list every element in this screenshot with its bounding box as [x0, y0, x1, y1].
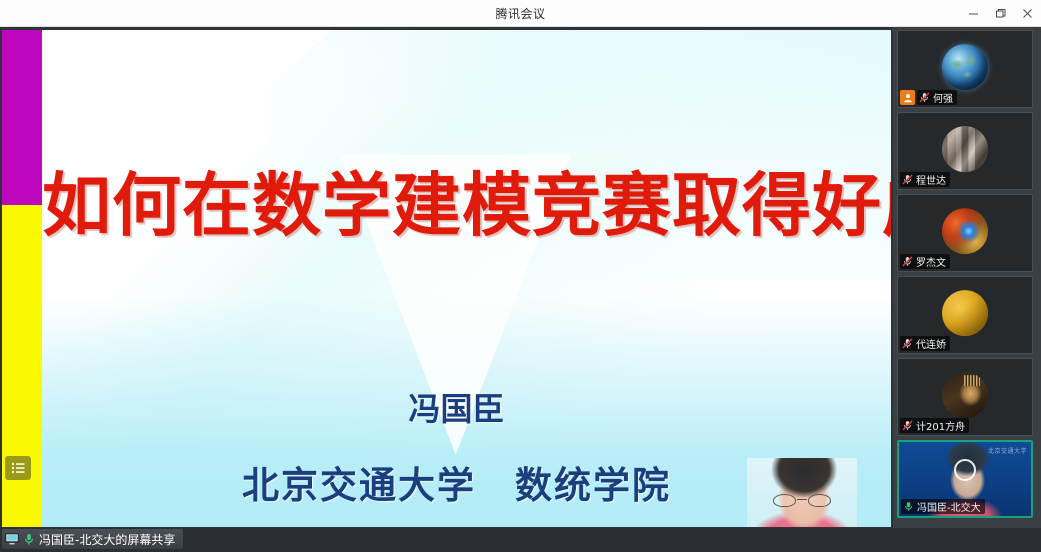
- participant-tile[interactable]: 何强: [897, 30, 1033, 108]
- share-status-label: 冯国臣-北交大的屏幕共享: [39, 531, 175, 548]
- meeting-frame: 如何在数学建模竞赛取得好成绩 冯国臣 北京交通大学 数统学院: [0, 27, 1041, 552]
- participant-tile-active[interactable]: 北京交通大学 冯国臣-北交大: [897, 440, 1033, 518]
- mic-muted-icon: [902, 420, 913, 431]
- presenter-video-overlay[interactable]: [747, 458, 857, 527]
- monitor-icon: [5, 533, 19, 545]
- participant-name: 程世达: [916, 172, 946, 187]
- minimize-button[interactable]: [960, 0, 987, 27]
- presentation-slide: 如何在数学建模竞赛取得好成绩 冯国臣 北京交通大学 数统学院: [2, 30, 891, 527]
- focus-ring-icon: [954, 459, 976, 481]
- participant-tile[interactable]: 代连娇: [897, 276, 1033, 354]
- mic-active-icon: [903, 501, 914, 512]
- avatar: [942, 126, 988, 172]
- presenter-face: [747, 458, 857, 527]
- avatar: [942, 290, 988, 336]
- avatar: [942, 372, 988, 418]
- participant-strip[interactable]: 何强 程世达: [893, 27, 1041, 552]
- window-controls: [960, 0, 1041, 27]
- name-plate: 计201方舟: [900, 418, 969, 433]
- host-person-icon: [900, 90, 915, 105]
- mic-muted-icon: [902, 256, 913, 267]
- avatar: [942, 208, 988, 254]
- name-plate: 代连娇: [900, 336, 950, 351]
- participant-name: 何强: [933, 90, 953, 105]
- name-plate: 冯国臣-北交大: [901, 499, 985, 514]
- close-button[interactable]: [1014, 0, 1041, 27]
- list-menu-icon[interactable]: [5, 456, 31, 480]
- mic-muted-icon: [919, 92, 930, 103]
- mic-active-icon: [23, 533, 35, 546]
- name-plate: 罗杰文: [900, 254, 950, 269]
- slide-rail-purple: [2, 30, 42, 205]
- participant-tile[interactable]: 程世达: [897, 112, 1033, 190]
- slide-title: 如何在数学建模竞赛取得好成绩: [42, 170, 871, 242]
- video-watermark: 北京交通大学: [988, 446, 1027, 455]
- tencent-meeting-window: 腾讯会议: [0, 0, 1041, 552]
- avatar: [942, 44, 988, 90]
- participant-tile[interactable]: 罗杰文: [897, 194, 1033, 272]
- title-bar: 腾讯会议: [0, 0, 1041, 27]
- participant-name: 罗杰文: [916, 254, 946, 269]
- participant-name: 冯国臣-北交大: [917, 499, 981, 514]
- shared-screen-area[interactable]: 如何在数学建模竞赛取得好成绩 冯国臣 北京交通大学 数统学院: [2, 30, 891, 527]
- name-plate: 程世达: [900, 172, 950, 187]
- participant-tile[interactable]: 计201方舟: [897, 358, 1033, 436]
- bottom-bar: 冯国臣-北交大的屏幕共享: [0, 528, 1041, 552]
- participant-name: 计201方舟: [916, 418, 965, 433]
- mic-muted-icon: [902, 174, 913, 185]
- slide-presenter-name: 冯国臣: [42, 384, 871, 430]
- mic-muted-icon: [902, 338, 913, 349]
- maximize-button[interactable]: [987, 0, 1014, 27]
- glasses-icon: [773, 494, 831, 508]
- window-title: 腾讯会议: [495, 5, 545, 22]
- screen-share-indicator[interactable]: 冯国臣-北交大的屏幕共享: [2, 529, 183, 549]
- participant-name: 代连娇: [916, 336, 946, 351]
- name-plate: 何强: [917, 90, 957, 105]
